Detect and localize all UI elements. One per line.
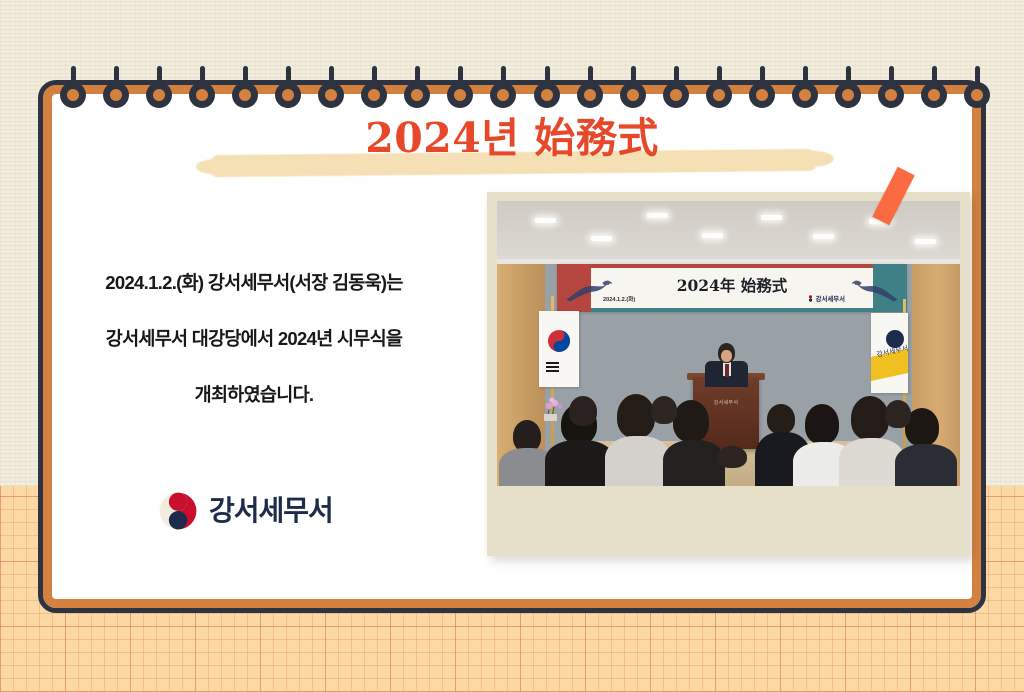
speaker-face bbox=[721, 350, 732, 362]
spiral-ring bbox=[749, 66, 775, 110]
spiral-ring bbox=[275, 66, 301, 110]
spiral-ring-hole bbox=[878, 82, 904, 108]
spiral-ring bbox=[878, 66, 904, 110]
spiral-ring-hole bbox=[749, 82, 775, 108]
taeguk-icon bbox=[158, 491, 198, 531]
spiral-ring-hole bbox=[534, 82, 560, 108]
spiral-ring bbox=[663, 66, 689, 110]
banner-org-label: 강서세무서 bbox=[816, 294, 845, 303]
spiral-ring-hole bbox=[232, 82, 258, 108]
spiral-ring bbox=[318, 66, 344, 110]
banner-org: 강서세무서 bbox=[807, 294, 845, 303]
spiral-ring bbox=[620, 66, 646, 110]
spiral-ring-hole bbox=[404, 82, 430, 108]
downlight bbox=[702, 233, 723, 238]
spiral-ring-hole bbox=[577, 82, 603, 108]
spiral-ring bbox=[361, 66, 387, 110]
spiral-ring-hole bbox=[964, 82, 990, 108]
body-line-2: 강서세무서 대강당에서 2024년 시무식을 bbox=[48, 311, 460, 367]
downlight bbox=[761, 215, 782, 220]
spiral-ring bbox=[577, 66, 603, 110]
spiral-ring bbox=[964, 66, 990, 110]
spiral-ring-hole bbox=[921, 82, 947, 108]
spiral-ring bbox=[706, 66, 732, 110]
agency-logo: 강서세무서 bbox=[158, 487, 388, 535]
spiral-ring-hole bbox=[663, 82, 689, 108]
downlight bbox=[535, 218, 556, 223]
spiral-ring-hole bbox=[146, 82, 172, 108]
downlight bbox=[915, 239, 936, 244]
event-banner: 2024年 始務式 2024.1.2.(화) 강서세무서 bbox=[557, 264, 907, 312]
spiral-ring-hole bbox=[792, 82, 818, 108]
spiral-binding bbox=[38, 66, 986, 116]
title-block: 2024년 始務式 bbox=[38, 104, 986, 184]
spiral-ring bbox=[921, 66, 947, 110]
spiral-ring-hole bbox=[275, 82, 301, 108]
spiral-ring-hole bbox=[490, 82, 516, 108]
korean-flag bbox=[539, 311, 579, 387]
spiral-ring-hole bbox=[318, 82, 344, 108]
downlight bbox=[647, 213, 668, 218]
spiral-ring bbox=[60, 66, 86, 110]
spiral-ring-hole bbox=[620, 82, 646, 108]
banner-title: 2024年 始務式 bbox=[557, 274, 907, 296]
downlight bbox=[813, 234, 834, 239]
photo-card: 2024年 始務式 2024.1.2.(화) 강서세무서 bbox=[487, 192, 970, 556]
spiral-ring bbox=[404, 66, 430, 110]
spiral-ring bbox=[232, 66, 258, 110]
spiral-ring-hole bbox=[60, 82, 86, 108]
spiral-ring-hole bbox=[103, 82, 129, 108]
spiral-ring-hole bbox=[447, 82, 473, 108]
event-photo: 2024年 始務式 2024.1.2.(화) 강서세무서 bbox=[497, 201, 960, 486]
spiral-ring bbox=[447, 66, 473, 110]
downlight bbox=[591, 236, 612, 241]
spiral-ring bbox=[534, 66, 560, 110]
spiral-ring bbox=[146, 66, 172, 110]
spiral-ring bbox=[490, 66, 516, 110]
spiral-ring bbox=[835, 66, 861, 110]
spiral-ring bbox=[189, 66, 215, 110]
spiral-ring-hole bbox=[189, 82, 215, 108]
body-text-block: 2024.1.2.(화) 강서세무서(서장 김동욱)는 강서세무서 대강당에서 … bbox=[48, 255, 460, 423]
spiral-ring bbox=[103, 66, 129, 110]
spiral-ring-hole bbox=[361, 82, 387, 108]
banner-date: 2024.1.2.(화) bbox=[603, 295, 635, 303]
body-line-3: 개최하였습니다. bbox=[48, 367, 460, 423]
spiral-ring bbox=[792, 66, 818, 110]
agency-flag: 강서세무서 bbox=[871, 313, 908, 393]
agency-name-label: 강서세무서 bbox=[209, 497, 333, 525]
spiral-ring-hole bbox=[835, 82, 861, 108]
audience-group bbox=[497, 411, 960, 486]
taeguk-icon-small bbox=[807, 295, 814, 302]
spiral-ring-hole bbox=[706, 82, 732, 108]
speaker-tie bbox=[725, 364, 729, 377]
body-line-1: 2024.1.2.(화) 강서세무서(서장 김동욱)는 bbox=[48, 255, 460, 311]
